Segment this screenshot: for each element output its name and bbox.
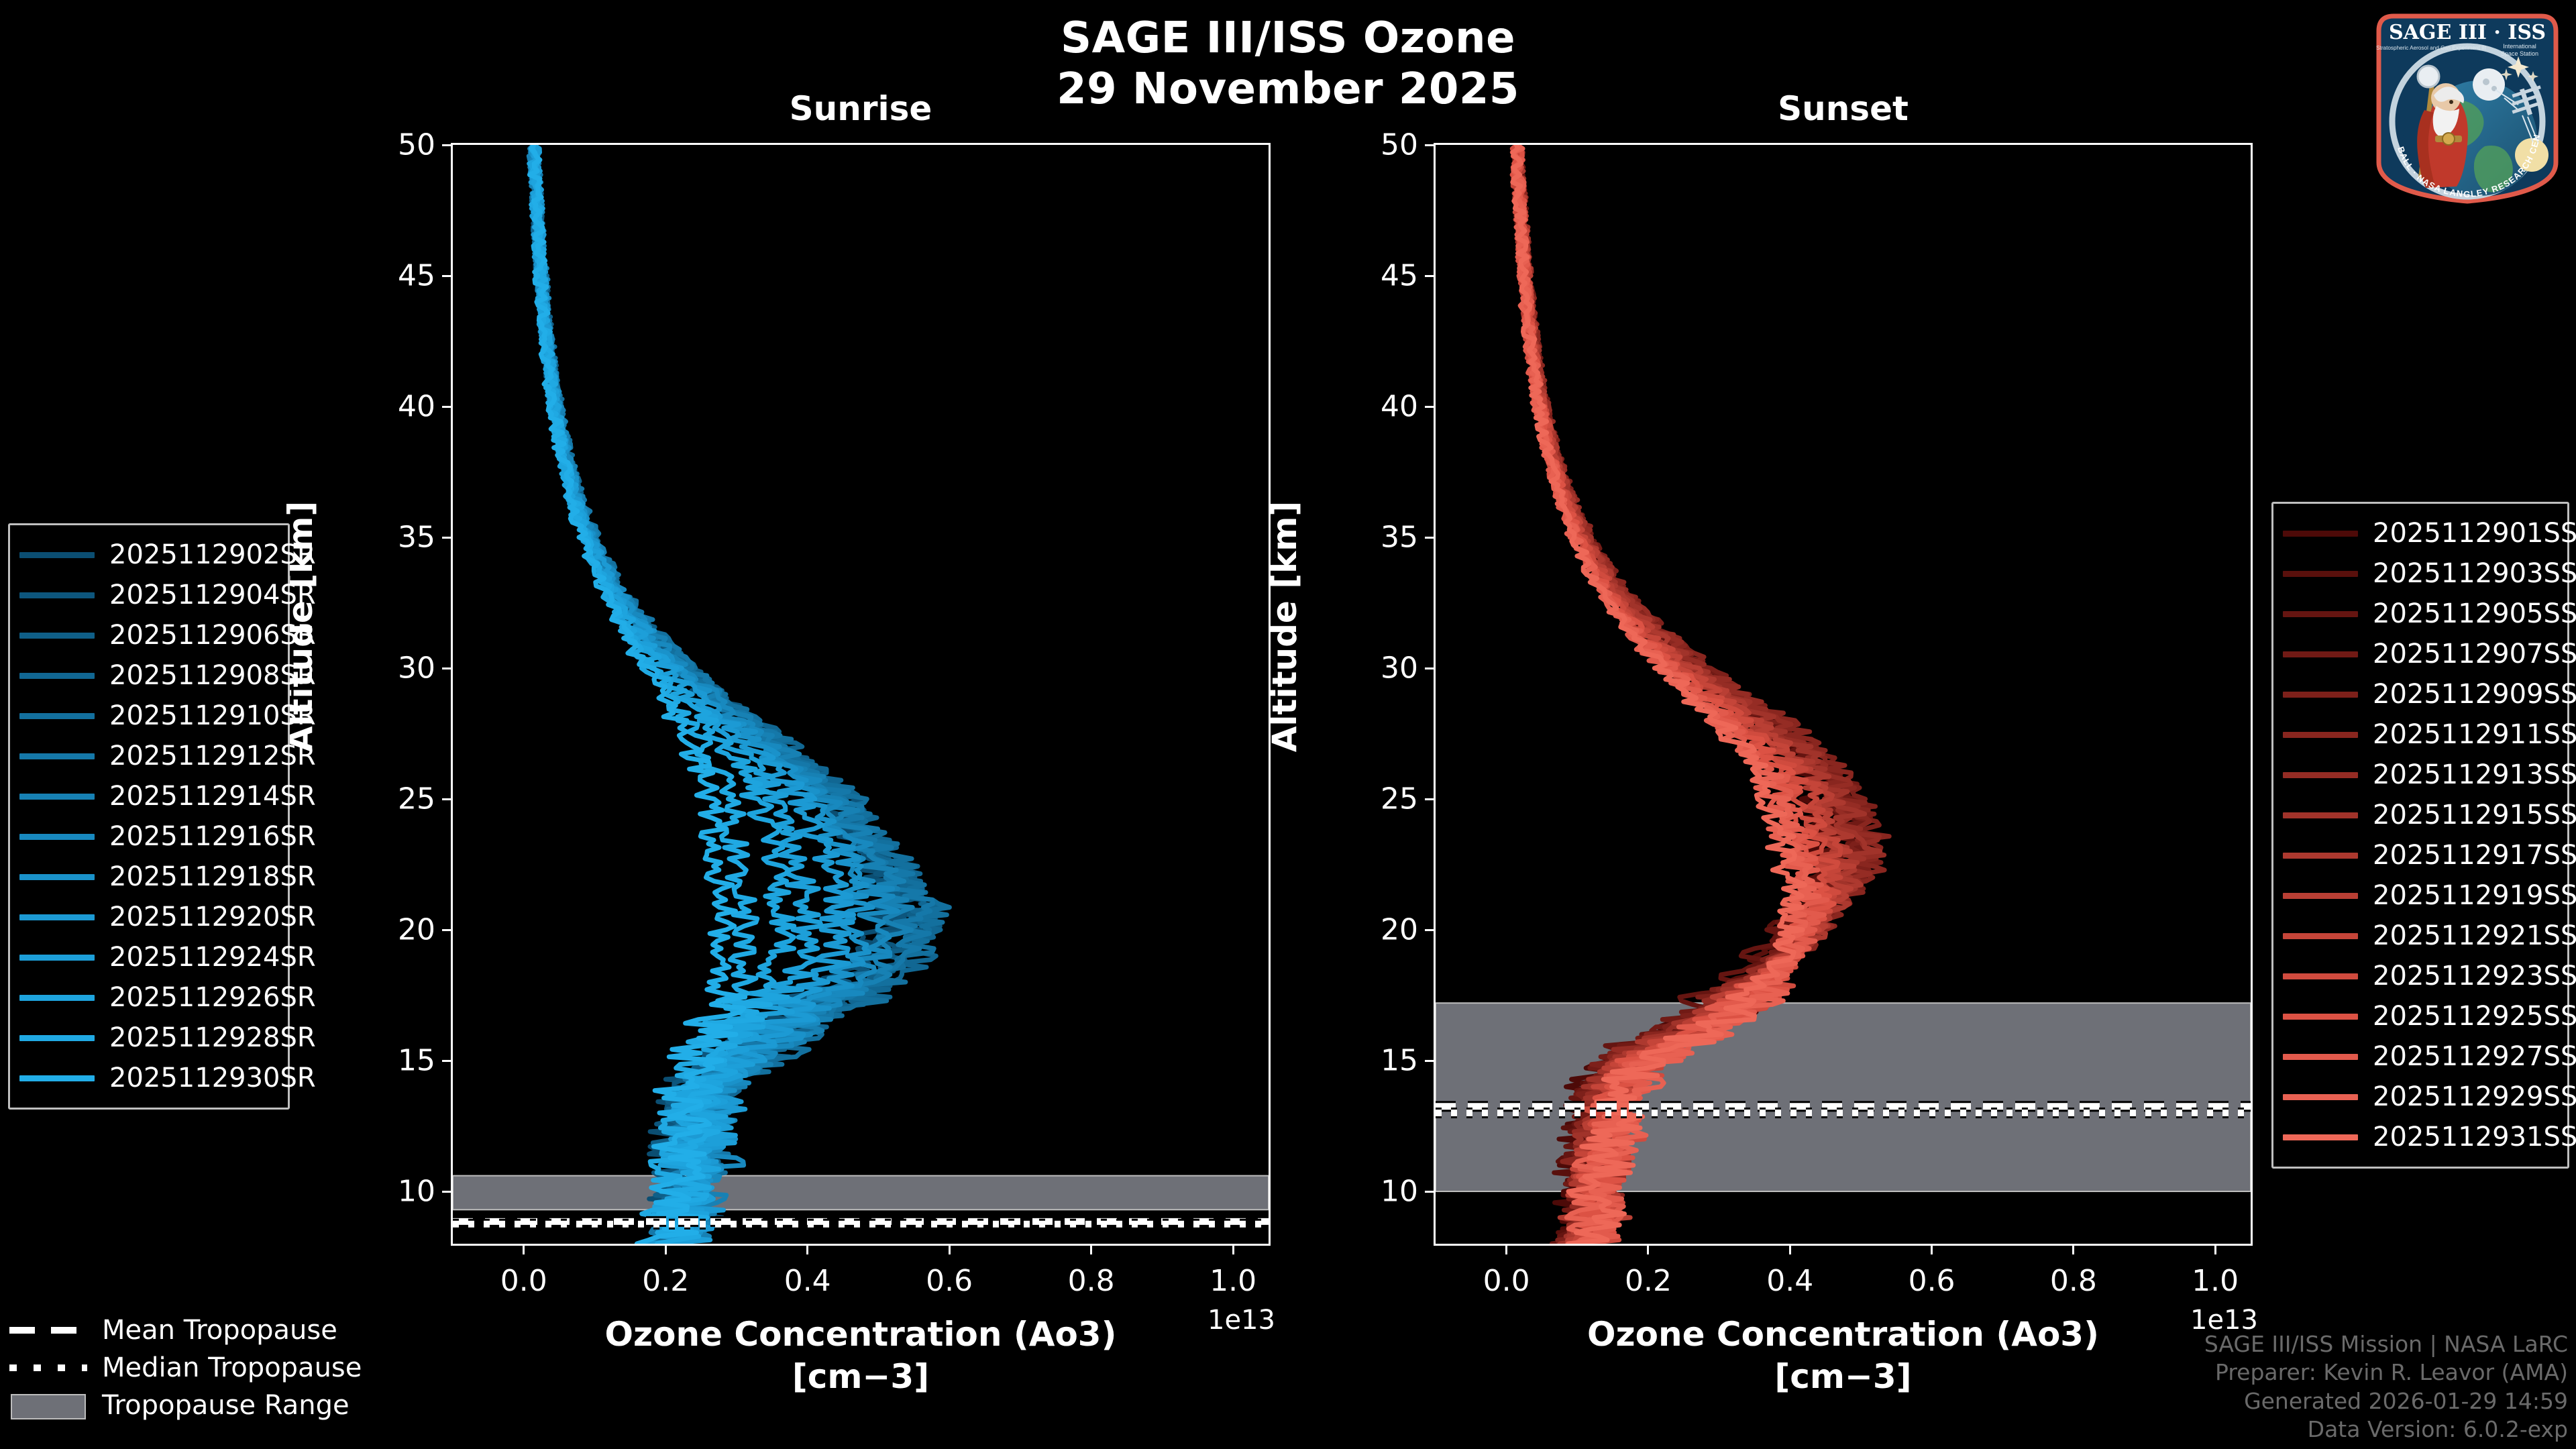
y-tick (1425, 406, 1436, 408)
legend-item-series[interactable]: 2025112903SS (2283, 553, 2555, 594)
legend-item-series[interactable]: 2025112909SS (2283, 674, 2555, 714)
x-tick (1505, 1244, 1507, 1254)
x-tick-label: 0.0 (1483, 1264, 1530, 1298)
chart-page: SAGE III/ISS Ozone 29 November 2025 (0, 0, 2576, 1449)
x-tick-label: 0.6 (926, 1264, 973, 1298)
x-tick (806, 1244, 808, 1254)
legend-label-series: 2025112903SS (2373, 558, 2576, 589)
y-tick (1425, 798, 1436, 800)
legend-label-series: 2025112920SR (109, 902, 316, 932)
x-tick (2072, 1244, 2074, 1254)
legend-item-series[interactable]: 2025112911SS (2283, 714, 2555, 755)
legend-item-series[interactable]: 2025112913SS (2283, 755, 2555, 795)
y-tick (442, 929, 453, 931)
legend-color-swatch (19, 1035, 95, 1041)
x-axis-label-sunrise: Ozone Concentration (Ao3) [cm−3] (451, 1313, 1271, 1397)
legend-label-median-tropopause: Median Tropopause (102, 1352, 362, 1383)
legend-label-series: 2025112904SR (109, 580, 316, 610)
y-tick (1425, 1060, 1436, 1062)
legend-label-series: 2025112930SR (109, 1063, 316, 1093)
legend-item-series[interactable]: 2025112910SR (19, 696, 276, 736)
legend-color-swatch (2283, 812, 2358, 818)
y-tick (442, 1191, 453, 1193)
legend-item-median-tropopause[interactable]: Median Tropopause (9, 1349, 358, 1387)
x-axis-label-sunset: Ozone Concentration (Ao3) [cm−3] (1434, 1313, 2253, 1397)
y-tick-label: 10 (398, 1175, 435, 1209)
legend-label-series: 2025112910SR (109, 700, 316, 731)
legend-color-swatch (2283, 933, 2358, 939)
legend-item-series[interactable]: 2025112904SR (19, 575, 276, 615)
legend-color-swatch (19, 552, 95, 558)
legend-color-swatch (19, 874, 95, 880)
legend-color-swatch (2283, 772, 2358, 778)
y-tick (442, 798, 453, 800)
legend-color-swatch (19, 753, 95, 759)
x-tick-label: 1.0 (1210, 1264, 1256, 1298)
y-tick-label: 45 (1381, 259, 1418, 293)
legend-item-series[interactable]: 2025112923SS (2283, 956, 2555, 996)
legend-item-series[interactable]: 2025112914SR (19, 776, 276, 816)
legend-label-series: 2025112921SS (2373, 920, 2576, 951)
legend-color-swatch (2283, 651, 2358, 657)
plot-lines-sunrise (453, 145, 1269, 1244)
legend-label-series: 2025112926SR (109, 982, 316, 1013)
legend-item-series[interactable]: 2025112919SS (2283, 875, 2555, 916)
legend-label-series: 2025112931SS (2373, 1122, 2576, 1152)
legend-tropopause[interactable]: Mean Tropopause Median Tropopause Tropop… (9, 1311, 358, 1424)
y-tick-label: 20 (398, 913, 435, 947)
legend-item-series[interactable]: 2025112912SR (19, 736, 276, 776)
legend-label-series: 2025112911SS (2373, 719, 2576, 750)
legend-label-series: 2025112909SS (2373, 679, 2576, 710)
legend-label-series: 2025112908SR (109, 660, 316, 691)
legend-color-swatch (19, 995, 95, 1001)
plot-area-sunset: 1015202530354045500.00.20.40.60.81.0 (1434, 143, 2253, 1246)
legend-item-series[interactable]: 2025112924SR (19, 937, 276, 977)
plot-lines-sunset (1436, 145, 2251, 1244)
tropopause-range-band (453, 1176, 1269, 1210)
legend-item-series[interactable]: 2025112916SR (19, 816, 276, 857)
x-tick-label: 0.2 (642, 1264, 689, 1298)
x-tick-label: 0.8 (1068, 1264, 1115, 1298)
legend-color-swatch (2283, 732, 2358, 738)
legend-color-swatch (2283, 1134, 2358, 1140)
legend-label-series: 2025112928SR (109, 1022, 316, 1053)
x-tick (2214, 1244, 2216, 1254)
x-tick (523, 1244, 525, 1254)
x-tick-label: 0.4 (1766, 1264, 1813, 1298)
y-tick-label: 30 (398, 651, 435, 686)
legend-color-swatch (19, 834, 95, 840)
legend-sunset-series[interactable]: 2025112901SS2025112903SS2025112905SS2025… (2271, 502, 2569, 1169)
panel-title-sunrise: Sunrise (451, 89, 1271, 128)
x-tick (1931, 1244, 1933, 1254)
y-tick (442, 406, 453, 408)
svg-text:Space Station: Space Station (2501, 50, 2538, 57)
dashed-line-icon (9, 1324, 87, 1337)
legend-label-series: 2025112925SS (2373, 1001, 2576, 1032)
sage-iii-iss-mission-patch-logo: SAGE III · ISS Stratospheric Aerosol and… (2367, 4, 2568, 205)
legend-label-series: 2025112929SS (2373, 1081, 2576, 1112)
plot-area-sunrise: 1015202530354045500.00.20.40.60.81.0 (451, 143, 1271, 1246)
x-tick (665, 1244, 667, 1254)
dotted-line-icon (9, 1361, 87, 1375)
y-tick-label: 50 (1381, 128, 1418, 162)
legend-color-swatch (19, 794, 95, 800)
x-tick-label: 1.0 (2192, 1264, 2239, 1298)
svg-text:SAGE III · ISS: SAGE III · ISS (2389, 21, 2546, 44)
legend-color-swatch (2283, 611, 2358, 617)
y-axis-label-sunset: Altitude [km] (1265, 492, 1304, 761)
legend-item-series[interactable]: 2025112915SS (2283, 795, 2555, 835)
x-tick-label: 0.8 (2050, 1264, 2097, 1298)
svg-text:International: International (2503, 43, 2536, 50)
legend-item-series[interactable]: 2025112920SR (19, 897, 276, 937)
x-tick (949, 1244, 951, 1254)
legend-color-swatch (19, 1075, 95, 1081)
panel-title-sunset: Sunset (1434, 89, 2253, 128)
y-tick-label: 20 (1381, 913, 1418, 947)
y-tick-label: 25 (1381, 782, 1418, 816)
y-tick-label: 40 (1381, 390, 1418, 424)
legend-sunrise-series[interactable]: 2025112902SR2025112904SR2025112906SR2025… (8, 523, 290, 1110)
legend-item-mean-tropopause[interactable]: Mean Tropopause (9, 1311, 358, 1349)
legend-color-swatch (2283, 1014, 2358, 1020)
legend-label-series: 2025112917SS (2373, 840, 2576, 871)
legend-label-series: 2025112916SR (109, 821, 316, 852)
y-tick (442, 275, 453, 277)
y-tick-label: 35 (398, 521, 435, 555)
legend-color-swatch (2283, 692, 2358, 698)
y-tick-label: 15 (1381, 1044, 1418, 1078)
y-tick (1425, 667, 1436, 669)
x-tick (1647, 1244, 1649, 1254)
x-tick-label: 0.6 (1909, 1264, 1955, 1298)
y-tick-label: 50 (398, 128, 435, 162)
legend-color-swatch (19, 713, 95, 719)
legend-label-series: 2025112905SS (2373, 598, 2576, 629)
y-tick (1425, 275, 1436, 277)
legend-label-series: 2025112907SS (2373, 639, 2576, 669)
legend-label-series: 2025112927SS (2373, 1041, 2576, 1072)
legend-label-series: 2025112912SR (109, 741, 316, 771)
legend-item-series[interactable]: 2025112921SS (2283, 916, 2555, 956)
y-tick-label: 30 (1381, 651, 1418, 686)
legend-color-swatch (19, 955, 95, 961)
legend-item-series[interactable]: 2025112908SR (19, 655, 276, 696)
legend-color-swatch (19, 633, 95, 639)
legend-item-series[interactable]: 2025112901SS (2283, 513, 2555, 553)
legend-item-tropopause-range[interactable]: Tropopause Range (9, 1387, 358, 1424)
x-tick-label: 0.0 (500, 1264, 547, 1298)
legend-color-swatch (2283, 1054, 2358, 1060)
legend-item-series[interactable]: 2025112917SS (2283, 835, 2555, 875)
y-tick (1425, 1191, 1436, 1193)
legend-label-series: 2025112906SR (109, 620, 316, 651)
legend-color-swatch (19, 914, 95, 920)
legend-color-swatch (2283, 531, 2358, 537)
legend-color-swatch (2283, 973, 2358, 979)
y-tick-label: 10 (1381, 1175, 1418, 1209)
y-tick-label: 25 (398, 782, 435, 816)
legend-label-series: 2025112913SS (2373, 759, 2576, 790)
legend-label-series: 2025112924SR (109, 942, 316, 973)
legend-label-series: 2025112901SS (2373, 518, 2576, 549)
svg-text:Stratospheric Aerosol and Gas: Stratospheric Aerosol and Gas Experiment… (2376, 45, 2486, 51)
legend-label-series: 2025112914SR (109, 781, 316, 812)
legend-color-swatch (2283, 571, 2358, 577)
y-tick-label: 35 (1381, 521, 1418, 555)
legend-item-series[interactable]: 2025112931SS (2283, 1117, 2555, 1157)
y-tick (442, 144, 453, 146)
y-tick (1425, 929, 1436, 931)
legend-label-series: 2025112918SR (109, 861, 316, 892)
legend-item-series[interactable]: 2025112926SR (19, 977, 276, 1018)
x-tick-label: 0.4 (784, 1264, 831, 1298)
legend-item-series[interactable]: 2025112930SR (19, 1058, 276, 1098)
legend-item-series[interactable]: 2025112918SR (19, 857, 276, 897)
legend-item-series[interactable]: 2025112906SR (19, 615, 276, 655)
legend-item-series[interactable]: 2025112928SR (19, 1018, 276, 1058)
legend-item-series[interactable]: 2025112902SR (19, 535, 276, 575)
y-tick (442, 667, 453, 669)
legend-item-series[interactable]: 2025112927SS (2283, 1036, 2555, 1077)
legend-label-series: 2025112919SS (2373, 880, 2576, 911)
legend-item-series[interactable]: 2025112905SS (2283, 594, 2555, 634)
y-tick-label: 40 (398, 390, 435, 424)
legend-color-swatch (2283, 893, 2358, 899)
legend-label-series: 2025112902SR (109, 539, 316, 570)
legend-item-series[interactable]: 2025112929SS (2283, 1077, 2555, 1117)
legend-color-swatch (2283, 853, 2358, 859)
footer-credit: SAGE III/ISS Mission | NASA LaRC Prepare… (2204, 1330, 2568, 1444)
y-tick (442, 1060, 453, 1062)
y-tick-label: 45 (398, 259, 435, 293)
legend-label-mean-tropopause: Mean Tropopause (102, 1315, 337, 1346)
filled-band-icon (9, 1399, 87, 1412)
legend-color-swatch (19, 673, 95, 679)
legend-label-tropopause-range: Tropopause Range (102, 1390, 350, 1421)
legend-label-series: 2025112915SS (2373, 800, 2576, 830)
x-axis-exponent-sunrise: 1e13 (1207, 1305, 1275, 1336)
y-tick-label: 15 (398, 1044, 435, 1078)
legend-item-series[interactable]: 2025112907SS (2283, 634, 2555, 674)
x-tick (1090, 1244, 1092, 1254)
x-tick (1789, 1244, 1791, 1254)
legend-color-swatch (2283, 1094, 2358, 1100)
legend-label-series: 2025112923SS (2373, 961, 2576, 991)
x-tick (1232, 1244, 1234, 1254)
y-tick (1425, 537, 1436, 539)
y-tick (1425, 144, 1436, 146)
y-tick (442, 537, 453, 539)
legend-color-swatch (19, 592, 95, 598)
x-tick-label: 0.2 (1625, 1264, 1672, 1298)
legend-item-series[interactable]: 2025112925SS (2283, 996, 2555, 1036)
